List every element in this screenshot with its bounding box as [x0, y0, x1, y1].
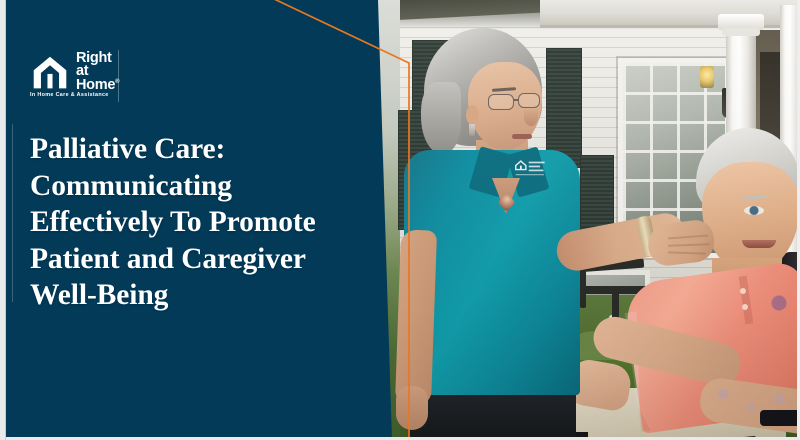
- client-shirt-embroidery: [767, 293, 791, 314]
- page-left-border: [5, 0, 6, 440]
- client-mouth: [742, 240, 776, 248]
- caregiver-ear: [466, 105, 479, 125]
- logo-divider-rule: [118, 50, 119, 102]
- headline-line: Effectively To Promote: [30, 204, 382, 241]
- logo-wordmark: Right at Home®: [76, 52, 119, 92]
- caregiver-earring: [469, 124, 475, 136]
- headline-line: Patient and Caregiver: [30, 241, 382, 278]
- patio-chair: [580, 268, 586, 308]
- client-shirt-button: [740, 288, 746, 294]
- eyeglasses-icon: [488, 94, 514, 110]
- hero-banner: Right at Home® In Home Care & Assistance…: [0, 0, 800, 440]
- caregiver-mouth: [512, 134, 532, 139]
- porch-column-capital: [722, 28, 760, 36]
- article-headline: Palliative Care: Communicating Effective…: [30, 131, 382, 314]
- eyeglasses-icon: [518, 93, 540, 108]
- logo-tagline: In Home Care & Assistance: [30, 92, 109, 98]
- wheelchair-armrest: [760, 410, 800, 426]
- caregiver-nose: [524, 108, 538, 126]
- porch-light-icon: [700, 66, 714, 88]
- caregiver-left-hand: [396, 386, 428, 430]
- logo-line-home: Home®: [76, 79, 119, 92]
- uniform-logo-embroidery: [514, 158, 548, 180]
- caregiver-hair-side: [421, 82, 461, 154]
- right-at-home-logo[interactable]: Right at Home®: [30, 52, 119, 92]
- headline-line: Palliative Care:: [30, 131, 382, 168]
- client-shirt-button: [742, 304, 748, 310]
- eyeglasses-bridge: [513, 99, 519, 101]
- panel-accent-rule: [12, 124, 13, 302]
- headline-line: Well-Being: [30, 277, 382, 314]
- caregiver-left-arm: [395, 229, 437, 405]
- headline-line: Communicating: [30, 168, 382, 205]
- client-eye: [744, 206, 764, 215]
- house-outline-icon: [30, 54, 70, 92]
